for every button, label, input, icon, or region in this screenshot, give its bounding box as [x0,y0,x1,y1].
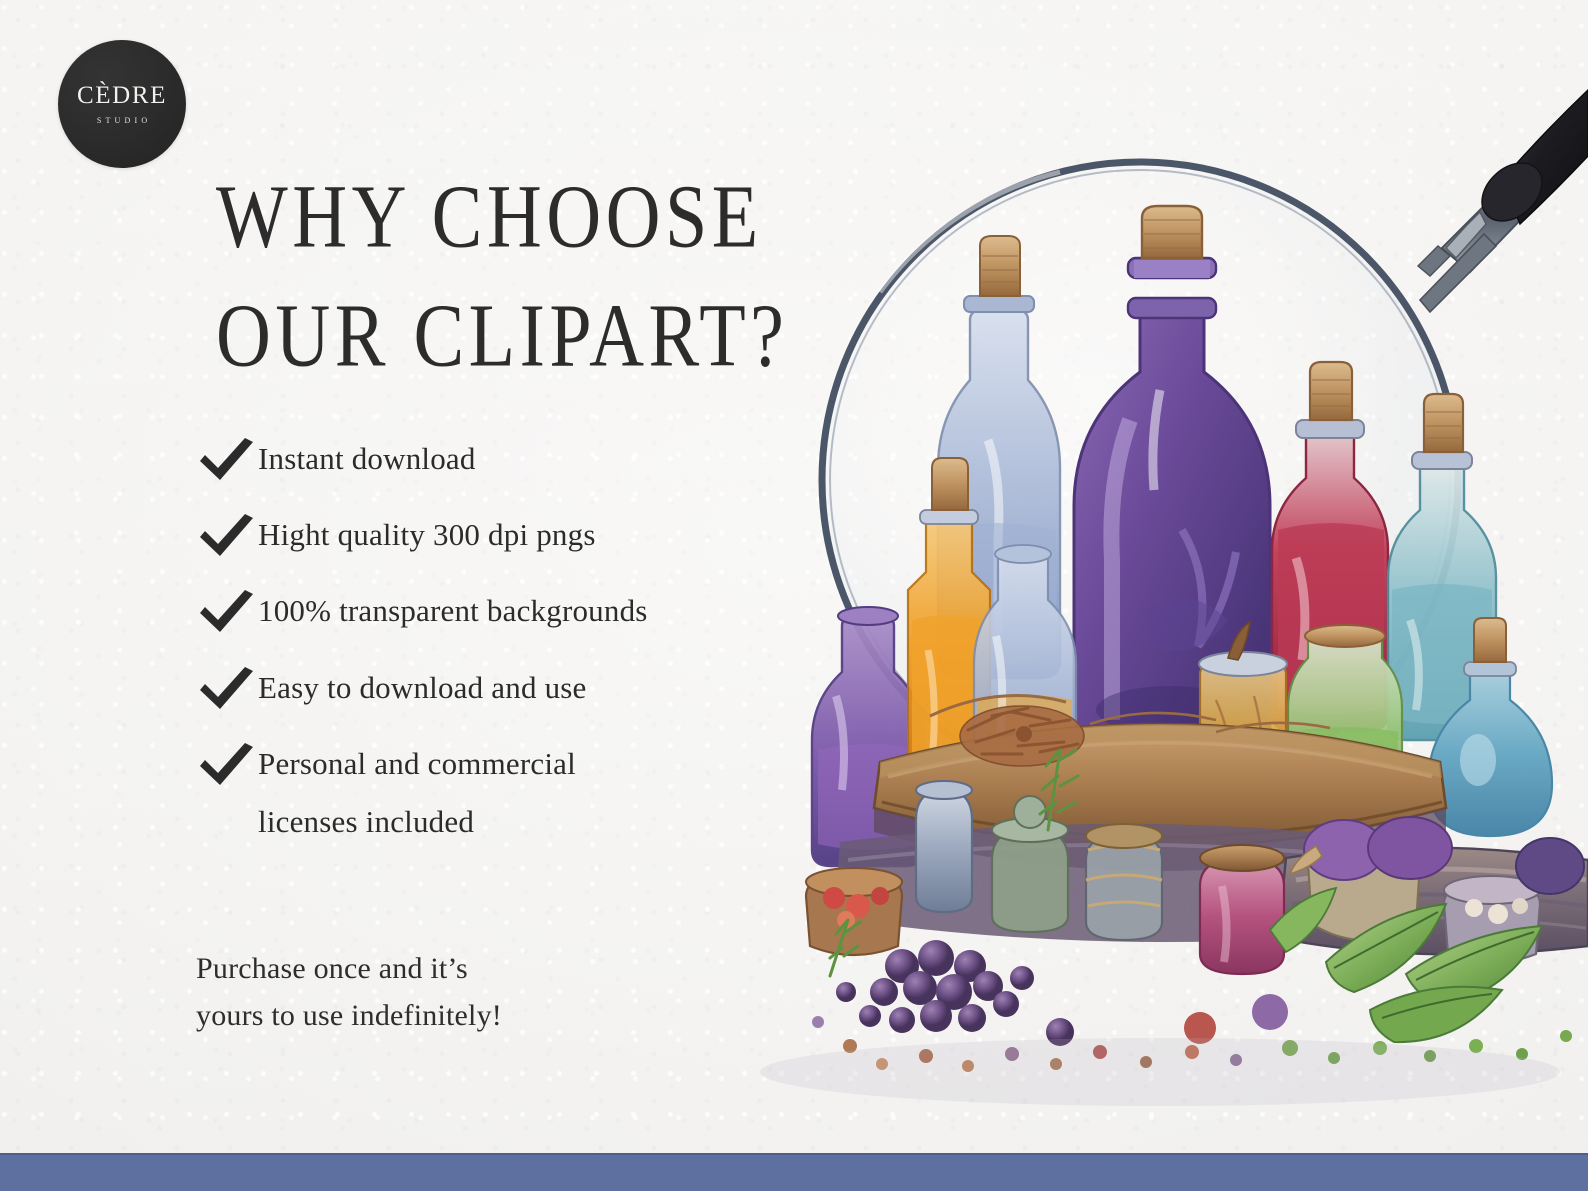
list-item-label: Easy to download and use [258,661,587,713]
magnifying-glass-apothecary-illustration [730,60,1588,1130]
magnifier-handle-group [1418,90,1588,312]
list-item-label: licenses included [258,795,474,847]
list-item-label: Personal and commercial [258,737,576,789]
check-icon [196,661,258,713]
check-icon-placeholder [196,795,258,847]
list-item-label: Hight quality 300 dpi pngs [258,508,596,560]
closing-note-line-2: yours to use indefinitely! [196,993,502,1040]
footer-accent-bar [0,1153,1588,1191]
closing-note-line-1: Purchase once and it’s [196,946,502,993]
check-icon [196,737,258,789]
brand-logo[interactable]: CÈDRE STUDIO [58,40,186,168]
check-icon [196,508,258,560]
brand-logo-name: CÈDRE [77,83,167,108]
list-item-label: Instant download [258,432,476,484]
check-icon [196,584,258,636]
closing-note: Purchase once and it’s yours to use inde… [196,946,502,1040]
list-item-label: 100% transparent backgrounds [258,584,648,636]
brand-logo-subtitle: STUDIO [93,116,152,125]
poster-canvas: CÈDRE STUDIO Why Choose Our Clipart? Ins… [0,0,1588,1191]
check-icon [196,432,258,484]
